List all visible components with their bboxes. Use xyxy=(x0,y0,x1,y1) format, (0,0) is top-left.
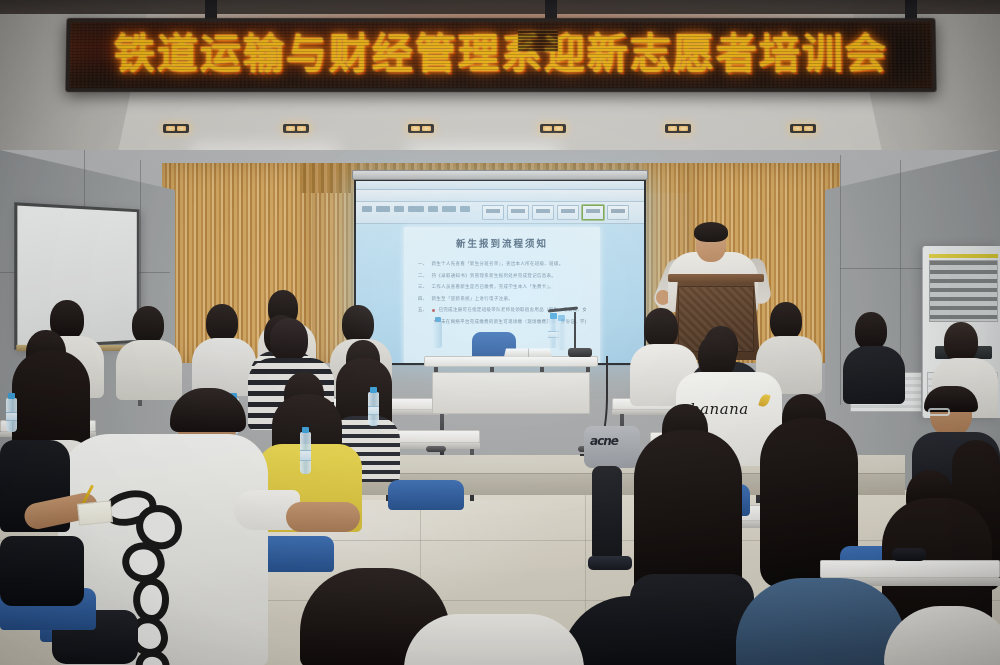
style-gallery-item[interactable] xyxy=(607,205,629,220)
front-table-modesty-panel xyxy=(432,372,590,414)
head xyxy=(855,312,887,350)
doc-line: 四、 新生至「迎新系统」上进行电子注册。 xyxy=(418,296,586,302)
document-body: 一、 新生个人先查看「新生分班名单」，查出本人所在班级、班级。 二、 持《录取通… xyxy=(404,261,600,325)
microphone-gooseneck xyxy=(574,312,576,350)
arm xyxy=(286,502,360,532)
front-table xyxy=(424,356,598,367)
shoulders xyxy=(736,578,906,665)
torso xyxy=(843,346,905,404)
doc-bullet-icon xyxy=(432,309,435,312)
head xyxy=(270,318,308,362)
spotlight-icon xyxy=(665,124,691,133)
doc-titlebar xyxy=(356,181,644,190)
spotlight-icon xyxy=(163,124,189,133)
ac-grille-icon xyxy=(929,260,998,322)
note-paper[interactable] xyxy=(77,500,113,525)
classroom-photo-scene: 铁道运输与财经管理系迎新志愿者培训会 • • • • • xyxy=(0,0,1000,665)
projector-screen-housing xyxy=(352,170,648,180)
leg xyxy=(592,466,622,562)
head xyxy=(644,308,678,348)
microphone-base xyxy=(568,348,592,357)
bag-print-acne-text: acne xyxy=(590,434,618,448)
wall-seam xyxy=(840,155,841,405)
glasses-icon xyxy=(928,408,950,416)
ceiling-dark-strip xyxy=(0,0,1000,14)
led-banner-board: 铁道运输与财经管理系迎新志愿者培训会 • • • • • xyxy=(65,18,936,92)
water-bottle[interactable] xyxy=(300,432,311,474)
document-title: 新生报到流程须知 xyxy=(404,236,600,250)
desk xyxy=(820,560,1000,578)
spotlight-icon xyxy=(283,124,309,133)
grey-bag: acne xyxy=(584,426,640,468)
chair-back xyxy=(388,480,464,510)
ac-accent-stripe xyxy=(929,254,998,258)
head xyxy=(944,322,978,362)
style-gallery-item-selected[interactable] xyxy=(582,205,604,220)
shoulders xyxy=(404,614,584,665)
head xyxy=(770,302,802,340)
spotlight-icon xyxy=(540,124,566,133)
doc-line: 三、 工作人员查看新生是否已缴费，完成学生本人「免费卡」。 xyxy=(418,284,586,290)
doc-line: 二、 持《录取通知书》到管理系新生报到处并完成登记信息表。 xyxy=(418,273,586,279)
head xyxy=(132,306,164,344)
doc-menubar xyxy=(356,190,644,202)
doc-ribbon xyxy=(356,202,644,224)
style-gallery-item[interactable] xyxy=(532,205,554,220)
water-bottle[interactable] xyxy=(368,392,379,426)
style-gallery-item[interactable] xyxy=(482,205,504,220)
doc-line: 一、 新生个人先查看「新生分班名单」，查出本人所在班级、班级。 xyxy=(418,261,586,267)
phone-icon[interactable] xyxy=(892,548,926,561)
style-gallery-item[interactable] xyxy=(557,205,579,220)
table-foot xyxy=(426,446,446,452)
led-faint-text: • • • • • xyxy=(208,70,269,79)
torso xyxy=(116,340,182,400)
lap xyxy=(0,536,84,606)
water-bottle[interactable] xyxy=(6,398,17,432)
open-book[interactable] xyxy=(504,348,552,356)
speaker-hair xyxy=(694,222,728,242)
head xyxy=(342,305,374,343)
spotlight-icon xyxy=(408,124,434,133)
shoe xyxy=(588,556,632,570)
head xyxy=(206,304,238,342)
banana-icon xyxy=(758,393,771,408)
style-gallery-item[interactable] xyxy=(507,205,529,220)
podium-top xyxy=(668,274,764,282)
water-bottle[interactable] xyxy=(433,321,442,348)
spotlight-icon xyxy=(790,124,816,133)
